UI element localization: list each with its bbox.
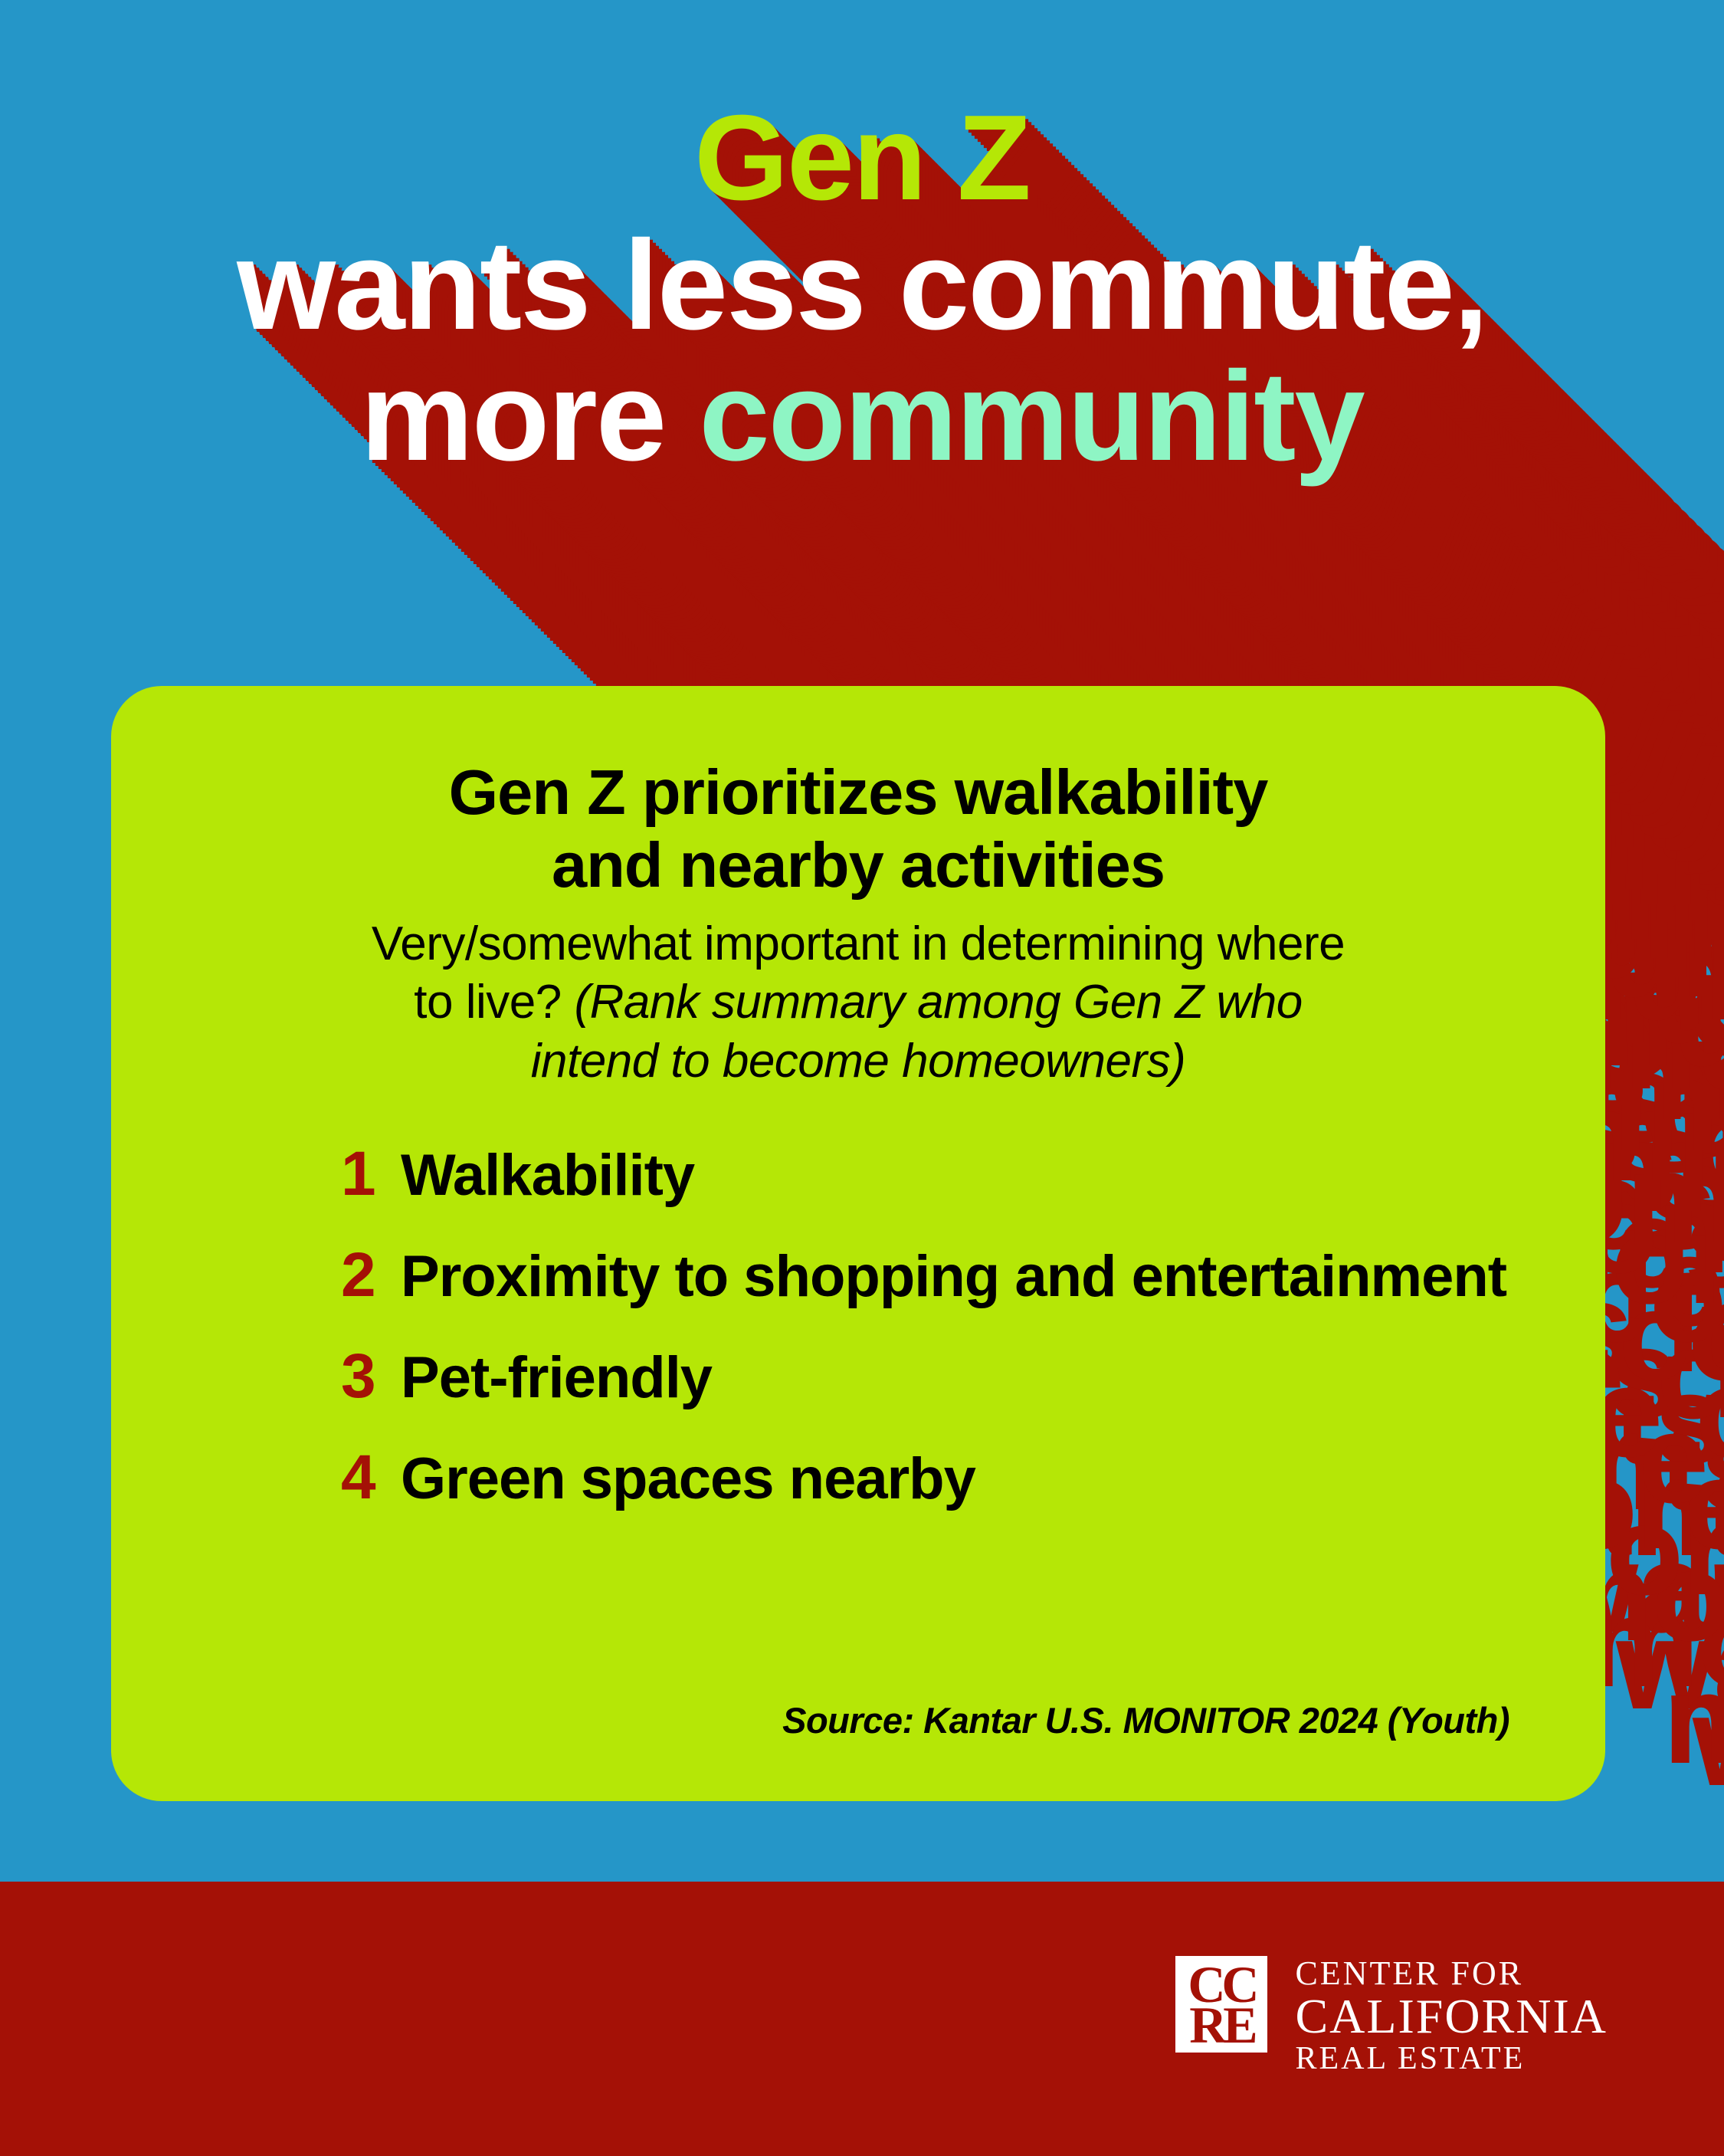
card-subheading: Very/somewhat important in determining w… — [111, 901, 1605, 1091]
poster-title: Gen Z wants less commute, more community — [0, 96, 1724, 483]
list-item: 1 Walkability — [111, 1138, 1605, 1212]
title-line-gen-z: Gen Z — [0, 96, 1724, 221]
rank-label: Pet-friendly — [401, 1344, 712, 1411]
rank-label: Walkability — [401, 1142, 694, 1209]
card-sub-line-2-italic: (Rank summary among Gen Z who — [574, 976, 1302, 1029]
title-line-more-community: more community — [0, 352, 1724, 483]
card-heading-line-2: and nearby activities — [226, 829, 1490, 902]
card-heading-line-1: Gen Z prioritizes walkability — [226, 756, 1490, 829]
rank-label: Proximity to shopping and entertainment — [401, 1243, 1506, 1310]
footer-bar: CC RE CENTER FOR CALIFORNIA REAL ESTATE — [0, 1882, 1724, 2156]
title-word-community: community — [699, 346, 1363, 487]
card-sub-line-1: Very/somewhat important in determining w… — [199, 915, 1517, 973]
rank-number: 3 — [341, 1341, 401, 1413]
title-line-wants-less-commute: wants less commute, — [0, 221, 1724, 352]
ccre-logo: CC RE CENTER FOR CALIFORNIA REAL ESTATE — [1175, 1956, 1608, 2076]
wordmark-line-2: CALIFORNIA — [1295, 1991, 1608, 2041]
infographic-poster: Gen Z wants less commute, more community… — [0, 0, 1724, 2156]
ccre-wordmark: CENTER FOR CALIFORNIA REAL ESTATE — [1295, 1956, 1608, 2076]
rank-number: 4 — [341, 1442, 401, 1514]
card-sub-line-2-plain: to live? — [414, 976, 574, 1029]
monogram-bottom: RE — [1175, 1999, 1267, 2051]
list-item: 2 Proximity to shopping and entertainmen… — [111, 1239, 1605, 1313]
wordmark-line-3: REAL ESTATE — [1295, 2041, 1608, 2076]
wordmark-line-1: CENTER FOR — [1295, 1956, 1608, 1991]
rank-number: 1 — [341, 1138, 401, 1210]
card-sub-line-2: to live? (Rank summary among Gen Z who — [199, 973, 1517, 1032]
ccre-monogram-icon: CC RE — [1175, 1956, 1267, 2053]
list-item: 3 Pet-friendly — [111, 1341, 1605, 1414]
rank-number: 2 — [341, 1239, 401, 1311]
source-note: Source: Kantar U.S. MONITOR 2024 (Youth) — [782, 1699, 1509, 1741]
title-word-more: more — [360, 346, 699, 487]
list-item: 4 Green spaces nearby — [111, 1442, 1605, 1515]
card-heading: Gen Z prioritizes walkability and nearby… — [111, 686, 1605, 901]
rank-label: Green spaces nearby — [401, 1446, 975, 1512]
priority-rank-list: 1 Walkability 2 Proximity to shopping an… — [111, 1091, 1605, 1515]
stat-card: Gen Z prioritizes walkability and nearby… — [111, 686, 1605, 1801]
card-sub-line-3: intend to become homeowners) — [199, 1032, 1517, 1091]
